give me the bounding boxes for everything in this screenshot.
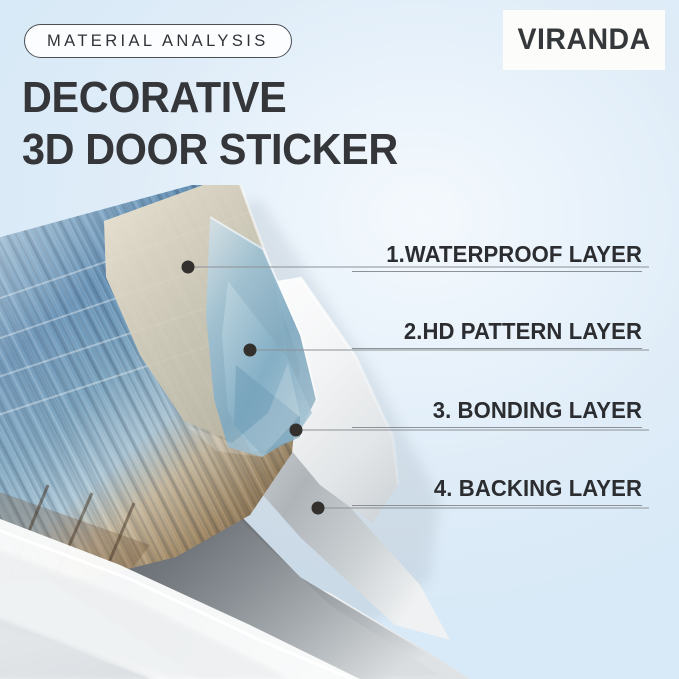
material-analysis-badge-label: MATERIAL ANALYSIS [47,32,269,51]
material-analysis-badge: MATERIAL ANALYSIS [24,24,292,58]
brand-logo-text: VIRANDA [517,23,650,57]
callout-label-3: 3. BONDING LAYER [342,397,642,428]
infographic-poster: 1.WATERPROOF LAYER 2.HD PATTERN LAYER 3.… [0,0,679,679]
brand-logo-box: VIRANDA [503,10,665,70]
callout-rule-2 [352,348,642,349]
page-title-line-2: 3D DOOR STICKER [22,124,436,176]
callout-label-2: 2.HD PATTERN LAYER [342,318,642,349]
callout-label-1: 1.WATERPROOF LAYER [342,241,642,272]
callout-rule-1 [352,271,642,272]
callout-rule-3 [352,427,642,428]
callout-rule-4 [352,505,642,506]
callout-label-4: 4. BACKING LAYER [342,475,642,506]
page-title-line-1: DECORATIVE [22,72,436,124]
callout-label-3-text: 3. BONDING LAYER [354,397,642,424]
callout-label-2-text: 2.HD PATTERN LAYER [354,318,642,345]
callout-label-4-text: 4. BACKING LAYER [354,475,642,502]
callout-label-1-text: 1.WATERPROOF LAYER [354,241,642,268]
page-title: DECORATIVE 3D DOOR STICKER [22,72,462,176]
